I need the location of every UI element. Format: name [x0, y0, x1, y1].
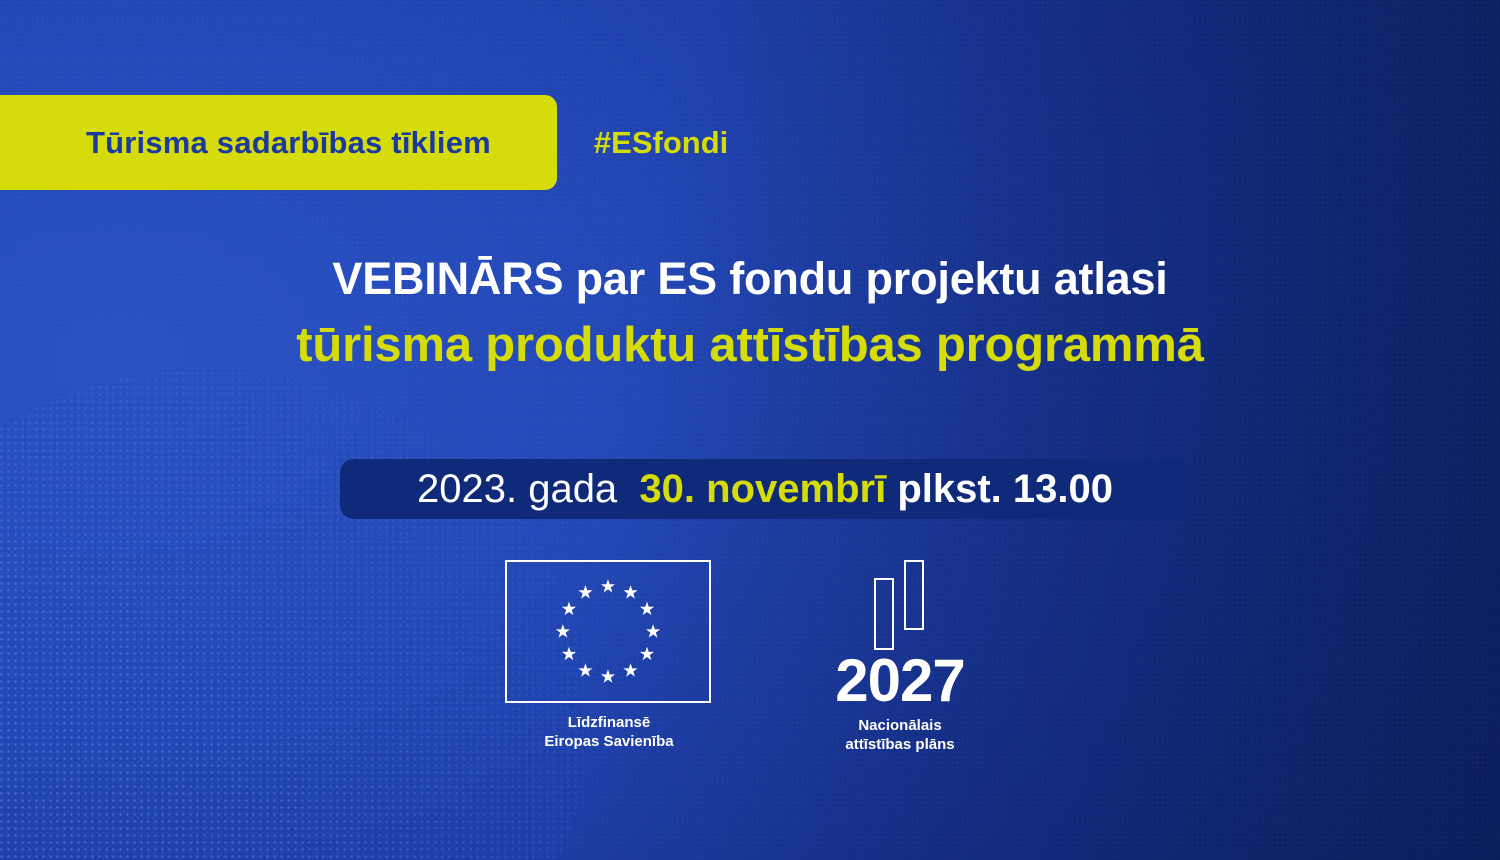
- date-year-part: 2023. gada: [417, 467, 617, 511]
- eu-logo-caption: Līdzfinansē Eiropas Savienība: [505, 713, 713, 751]
- eu-caption-line-1: Līdzfinansē: [505, 713, 713, 732]
- eu-flag-icon: [505, 560, 711, 703]
- logo-row: Līdzfinansē Eiropas Savienība 2027 Nacio…: [0, 560, 1500, 754]
- nap-year-label: 2027: [805, 652, 995, 710]
- headline-line-2: tūrisma produktu attīstības programmā: [0, 310, 1500, 380]
- nap-caption-line-2: attīstības plāns: [805, 735, 995, 754]
- headline-line-1: VEBINĀRS par ES fondu projektu atlasi: [0, 248, 1500, 310]
- nap-caption-line-1: Nacionālais: [805, 716, 995, 735]
- nap-logo: 2027 Nacionālais attīstības plāns: [805, 560, 995, 754]
- tagline-row: Tūrisma sadarbības tīkliem #ESfondi: [0, 95, 728, 190]
- nap-logo-caption: Nacionālais attīstības plāns: [805, 716, 995, 754]
- date-text: 2023. gada 30. novembrī plkst. 13.00: [417, 469, 1113, 509]
- headline-block: VEBINĀRS par ES fondu projektu atlasi tū…: [0, 248, 1500, 380]
- poster-canvas: Tūrisma sadarbības tīkliem #ESfondi VEBI…: [0, 0, 1500, 860]
- tagline-pill: Tūrisma sadarbības tīkliem: [0, 95, 557, 190]
- nap-bar-left-icon: [874, 578, 894, 650]
- eu-stars-icon: [507, 562, 709, 702]
- hashtag-label: #ESfondi: [594, 125, 728, 161]
- eu-logo: Līdzfinansē Eiropas Savienība: [505, 560, 713, 751]
- date-day-month-part: 30. novembrī: [639, 467, 886, 511]
- eu-caption-line-2: Eiropas Savienība: [505, 732, 713, 751]
- nap-bars-icon: [850, 560, 950, 650]
- tagline-pill-label: Tūrisma sadarbības tīkliem: [86, 125, 491, 161]
- nap-bar-right-icon: [904, 560, 924, 630]
- date-badge: 2023. gada 30. novembrī plkst. 13.00: [340, 459, 1190, 519]
- date-time-part: plkst. 13.00: [897, 467, 1113, 511]
